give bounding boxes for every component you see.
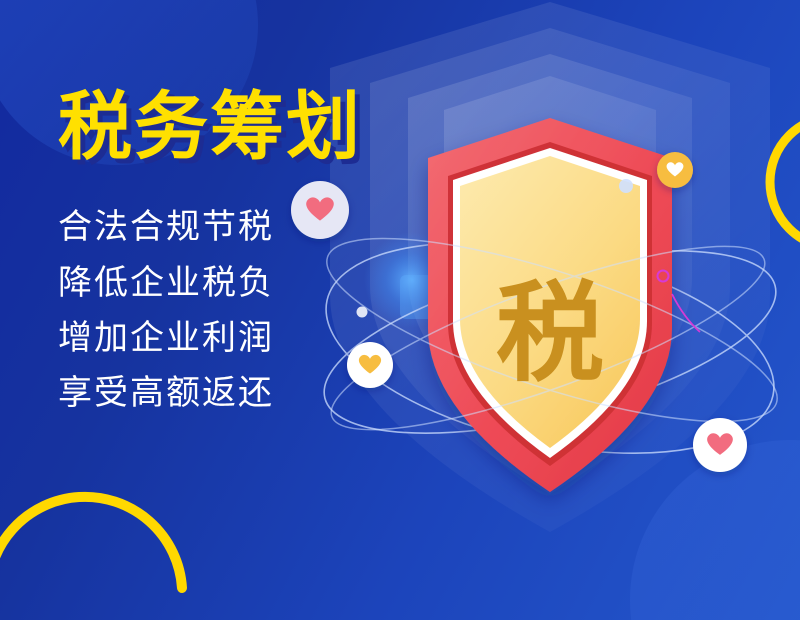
badge-heart-pink-right — [693, 418, 747, 472]
bottom-left-arc-decoration — [0, 497, 182, 600]
benefit-list: 合法合规节税 降低企业税负 增加企业利润 享受高额返还 — [58, 200, 418, 420]
benefit-item-2: 降低企业税负 — [58, 256, 418, 311]
page-title: 税务筹划 — [58, 88, 418, 166]
tax-planning-banner: 税务筹划 合法合规节税 降低企业税负 增加企业利润 享受高额返还 — [0, 0, 800, 620]
dot-white-upper — [619, 179, 633, 193]
badge-heart-white-right — [657, 152, 693, 188]
benefit-item-4: 享受高额返还 — [58, 366, 418, 421]
benefit-item-3: 增加企业利润 — [58, 311, 418, 366]
benefit-item-1: 合法合规节税 — [58, 200, 418, 255]
copy-block: 税务筹划 合法合规节税 降低企业税负 增加企业利润 享受高额返还 — [58, 88, 418, 421]
shield-tax-character: 税 — [496, 273, 604, 394]
